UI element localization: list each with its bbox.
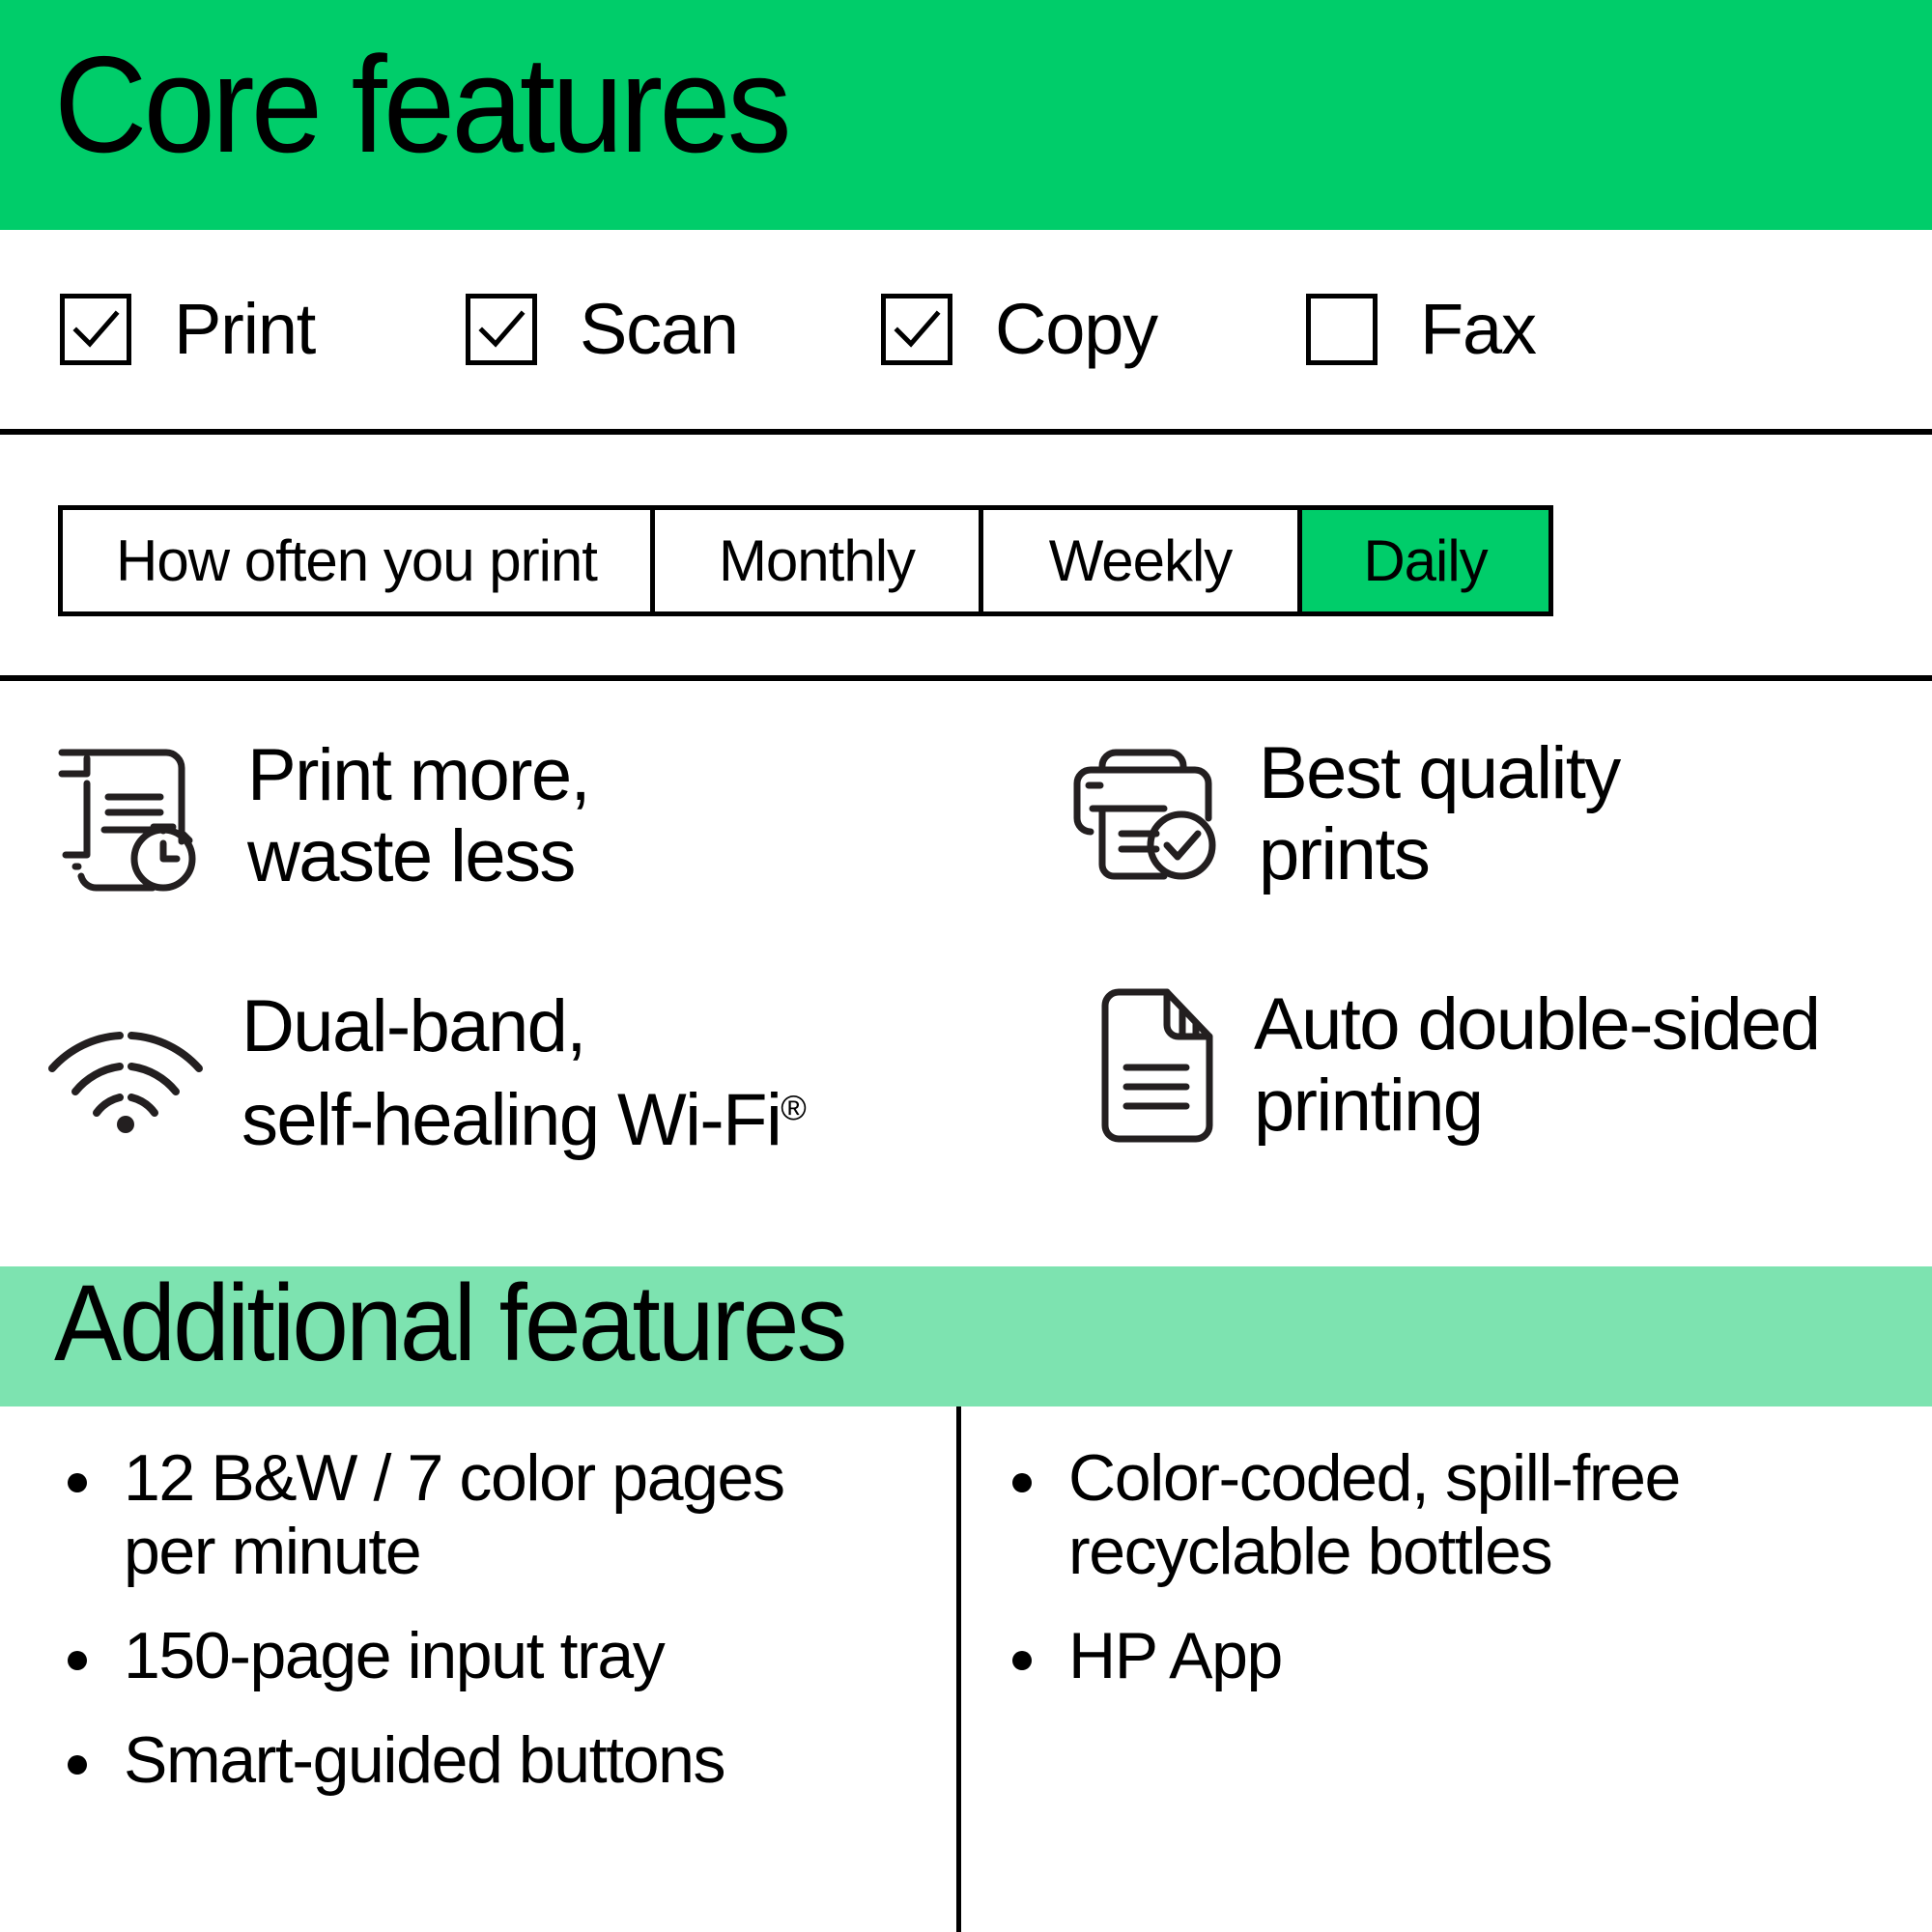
check-mark-icon xyxy=(65,298,127,360)
column-divider xyxy=(956,1406,961,1932)
capability-fax[interactable]: Fax xyxy=(1306,294,1673,365)
registered-trademark-icon: ® xyxy=(781,1088,807,1127)
feature-auto-duplex-text: Auto double-sided printing xyxy=(1254,984,1819,1147)
list-item-line1: 12 B&W / 7 color pages xyxy=(124,1441,784,1515)
capability-print[interactable]: Print xyxy=(60,294,466,365)
feature-dual-band-line2: self-healing Wi-Fi® xyxy=(241,1067,807,1161)
checkbox-checked-icon[interactable] xyxy=(60,294,131,365)
feature-print-more-line1: Print more, xyxy=(247,734,589,816)
list-item: HP App xyxy=(1005,1619,1874,1692)
feature-dual-band-line2-text: self-healing Wi-Fi xyxy=(241,1079,781,1161)
frequency-legend: How often you print xyxy=(63,510,655,611)
capabilities-row: Print Scan Copy Fax xyxy=(0,230,1932,429)
list-item: Smart-guided buttons xyxy=(60,1723,910,1797)
feature-best-quality-line2: prints xyxy=(1259,814,1620,895)
frequency-option-weekly[interactable]: Weekly xyxy=(983,510,1302,611)
frequency-option-monthly[interactable]: Monthly xyxy=(655,510,983,611)
list-item-line1: 150-page input tray xyxy=(124,1619,664,1692)
feature-auto-double-sided: Auto double-sided printing xyxy=(1092,984,1819,1147)
feature-print-more-waste-less: Print more, waste less xyxy=(44,729,589,903)
printer-feature-card: Core features Print Scan xyxy=(0,0,1932,1932)
list-item: 150-page input tray xyxy=(60,1619,910,1692)
core-features-title: Core features xyxy=(54,33,788,178)
feature-dual-band-line1: Dual-band, xyxy=(241,985,585,1067)
capability-scan[interactable]: Scan xyxy=(466,294,881,365)
capability-fax-label: Fax xyxy=(1420,294,1536,365)
list-item-line1: HP App xyxy=(1068,1619,1282,1692)
feature-dual-band-wifi: Dual-band, self-healing Wi-Fi® xyxy=(44,986,807,1161)
list-item-line2: per minute xyxy=(124,1515,910,1588)
frequency-option-daily[interactable]: Daily xyxy=(1302,510,1548,611)
list-item-line1: Color-coded, spill-free xyxy=(1068,1441,1680,1515)
checkbox-unchecked-icon[interactable] xyxy=(1306,294,1378,365)
wifi-icon xyxy=(44,1012,207,1136)
feature-dual-band-text: Dual-band, self-healing Wi-Fi® xyxy=(241,986,807,1161)
additional-features-right-list: Color-coded, spill-free recyclable bottl… xyxy=(1005,1441,1874,1723)
checkbox-checked-icon[interactable] xyxy=(466,294,537,365)
capability-scan-label: Scan xyxy=(580,294,738,365)
additional-features-left-list: 12 B&W / 7 color pages per minute 150-pa… xyxy=(60,1441,910,1828)
feature-auto-duplex-line2: printing xyxy=(1254,1065,1819,1147)
divider-top xyxy=(0,429,1932,435)
capability-copy-label: Copy xyxy=(995,294,1157,365)
list-item: 12 B&W / 7 color pages per minute xyxy=(60,1441,910,1588)
document-page-icon xyxy=(1092,984,1219,1147)
list-item: Color-coded, spill-free recyclable bottl… xyxy=(1005,1441,1874,1588)
checkbox-checked-icon[interactable] xyxy=(881,294,952,365)
document-stopwatch-icon xyxy=(44,729,218,903)
check-mark-icon xyxy=(470,298,532,360)
print-frequency-segmented-control[interactable]: How often you print Monthly Weekly Daily xyxy=(58,505,1553,616)
feature-auto-duplex-line1: Auto double-sided xyxy=(1254,983,1819,1065)
printer-check-icon xyxy=(1058,729,1228,899)
capability-copy[interactable]: Copy xyxy=(881,294,1306,365)
feature-grid: Print more, waste less xyxy=(0,675,1932,1265)
feature-best-quality-prints: Best quality prints xyxy=(1058,729,1620,899)
list-item-line1: Smart-guided buttons xyxy=(124,1723,724,1797)
feature-best-quality-line1: Best quality xyxy=(1259,732,1620,814)
additional-features-title: Additional features xyxy=(54,1253,844,1393)
feature-best-quality-text: Best quality prints xyxy=(1259,733,1620,895)
capability-print-label: Print xyxy=(174,294,315,365)
core-features-banner: Core features xyxy=(0,0,1932,230)
check-mark-icon xyxy=(886,298,948,360)
additional-features-banner: Additional features xyxy=(0,1266,1932,1406)
feature-print-more-text: Print more, waste less xyxy=(247,735,589,897)
list-item-line2: recyclable bottles xyxy=(1068,1515,1874,1588)
feature-print-more-line2: waste less xyxy=(247,816,589,897)
